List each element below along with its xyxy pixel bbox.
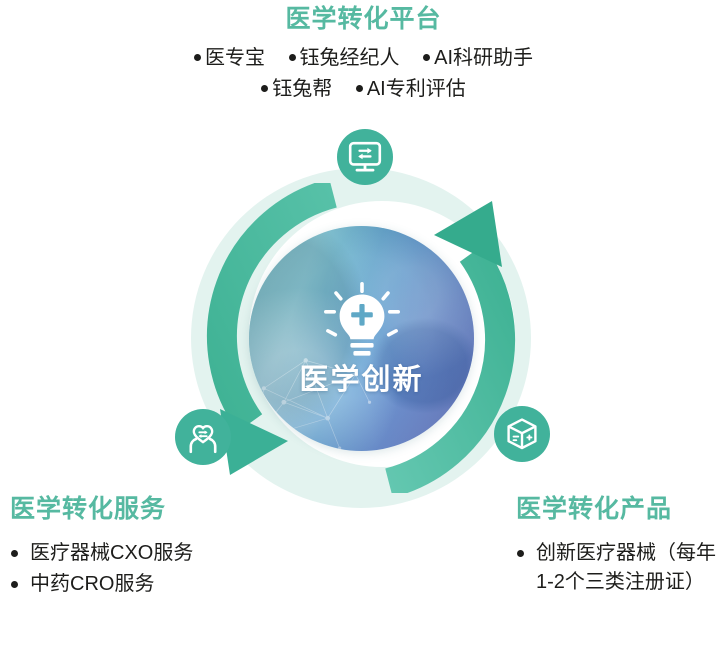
list-item: 医疗器械CXO服务 — [10, 539, 310, 568]
list-item-label: 钰兔帮 — [272, 78, 332, 100]
product-list: 创新医疗器械（每年1-2个三类注册证） — [516, 539, 727, 597]
center-label: 医学创新 — [299, 366, 423, 395]
list-item-label: 钰兔经纪人 — [300, 47, 400, 69]
hands-heart-icon — [185, 420, 221, 454]
list-item: 医专宝 — [194, 43, 265, 74]
bullet-dot-icon — [261, 85, 268, 92]
list-item: 中药CRO服务 — [10, 570, 310, 599]
bottom-left-heading: 医学转化服务 — [10, 494, 310, 525]
service-badge — [175, 409, 231, 465]
center-circle: 医学创新 — [249, 226, 474, 451]
top-text-block: 医学转化平台 医专宝 钰兔经纪人 AI科研助手 钰兔帮 AI专利评估 — [0, 4, 727, 105]
platform-badge — [337, 129, 393, 185]
list-item-label: 创新医疗器械（每年1-2个三类注册证） — [536, 542, 716, 593]
list-item: 钰兔帮 — [261, 74, 332, 105]
product-text-block: 医学转化产品 创新医疗器械（每年1-2个三类注册证） — [516, 494, 727, 599]
bullet-dot-icon — [356, 85, 363, 92]
list-item: AI专利评估 — [356, 74, 466, 105]
bullet-dot-icon — [423, 54, 430, 61]
bottom-right-heading: 医学转化产品 — [516, 494, 727, 525]
product-badge — [494, 406, 550, 462]
bullet-dot-icon — [194, 54, 201, 61]
top-heading: 医学转化平台 — [0, 4, 727, 35]
bullet-dot-icon — [11, 550, 18, 557]
top-bullet-row-2: 钰兔帮 AI专利评估 — [0, 74, 727, 105]
list-item-label: AI科研助手 — [434, 47, 533, 69]
list-item-label: 医疗器械CXO服务 — [30, 542, 193, 564]
box-plus-icon — [505, 417, 539, 451]
bullet-dot-icon — [11, 581, 18, 588]
list-item: AI科研助手 — [423, 43, 533, 74]
bullet-dot-icon — [517, 550, 524, 557]
top-bullet-row-1: 医专宝 钰兔经纪人 AI科研助手 — [0, 43, 727, 74]
list-item: 钰兔经纪人 — [289, 43, 400, 74]
list-item-label: AI专利评估 — [367, 78, 466, 100]
list-item: 创新医疗器械（每年1-2个三类注册证） — [516, 539, 727, 597]
service-list: 医疗器械CXO服务 中药CRO服务 — [10, 539, 310, 599]
service-text-block: 医学转化服务 医疗器械CXO服务 中药CRO服务 — [10, 494, 310, 601]
lightbulb-plus-icon — [318, 282, 406, 364]
list-item-label: 中药CRO服务 — [30, 573, 154, 595]
monitor-exchange-icon — [348, 141, 382, 173]
bullet-dot-icon — [289, 54, 296, 61]
list-item-label: 医专宝 — [205, 47, 265, 69]
